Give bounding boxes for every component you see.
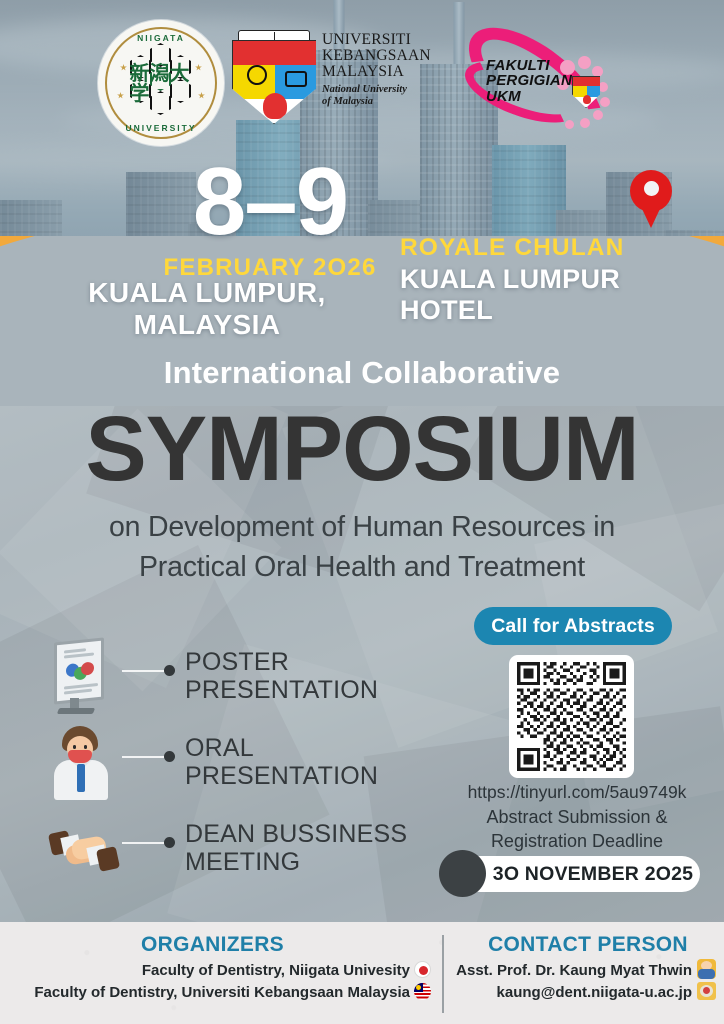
activity-label-line-1: POSTER xyxy=(185,648,378,676)
fakulti-text-block: FAKULTI PERGIGIAN UKM xyxy=(486,58,572,104)
bullet-dot xyxy=(164,751,175,762)
fakulti-pergigian-ukm-logo: FAKULTI PERGIGIAN UKM xyxy=(452,22,638,140)
activity-label-line-1: ORAL xyxy=(185,734,378,762)
qr-code-image xyxy=(516,662,627,771)
deadline-label: Abstract Submission & Registration Deadl… xyxy=(430,806,724,854)
contact-name: Asst. Prof. Dr. Kaung Myat Thwin xyxy=(450,962,692,979)
map-pin-icon xyxy=(630,170,672,228)
organizer-1: Faculty of Dentistry, Niigata Univesity xyxy=(0,962,410,979)
bullet-dot xyxy=(164,665,175,676)
footer-divider xyxy=(442,935,444,1013)
ukm-shield-icon xyxy=(232,40,316,124)
call-for-abstracts-button[interactable]: Call for Abstracts xyxy=(474,607,672,645)
fakulti-line-3: UKM xyxy=(486,89,572,104)
niigata-kanji: 新潟大学 xyxy=(130,63,193,103)
ukm-sub-2: of Malaysia xyxy=(322,96,440,108)
niigata-university-logo: NIIGATA UNIVERSITY 新潟大学 xyxy=(98,20,224,146)
ukm-line-3: MALAYSIA xyxy=(322,64,440,80)
list-item: DEAN BUSSINESS MEETING xyxy=(40,810,410,896)
fakulti-line-2: PERGIGIAN xyxy=(486,73,572,88)
organizers-heading: ORGANIZERS xyxy=(0,933,425,957)
list-item: POSTER PRESENTATION xyxy=(40,638,410,724)
activity-label-line-1: DEAN BUSSINESS xyxy=(185,820,407,848)
subtitle-line-1: on Development of Human Resources in xyxy=(0,508,724,548)
handshake-icon xyxy=(48,810,120,886)
activity-label: DEAN BUSSINESS MEETING xyxy=(185,820,407,876)
activity-list: POSTER PRESENTATION ORAL PRESENTATION xyxy=(40,638,410,896)
event-dates: 8–9 xyxy=(155,158,385,246)
monitor-poster-icon xyxy=(48,638,120,714)
subtitle-line-2: Practical Oral Health and Treatment xyxy=(0,548,724,588)
deadline-label-line-1: Abstract Submission & xyxy=(430,806,724,830)
contact-avatar-icon: . xyxy=(697,959,716,979)
deadline-label-line-2: Registration Deadline xyxy=(430,830,724,854)
page-title: SYMPOSIUM xyxy=(0,405,724,493)
niigata-logo-bottom-text: UNIVERSITY xyxy=(98,123,224,133)
venue-line-1: ROYALE CHULAN xyxy=(400,234,690,262)
bullet-dot xyxy=(164,837,175,848)
deadline-circle-accent xyxy=(439,850,486,897)
page-subtitle: on Development of Human Resources in Pra… xyxy=(0,508,724,588)
ukm-line-1: UNIVERSITI xyxy=(322,32,440,48)
ukm-crest-logo xyxy=(232,26,316,130)
activity-label-line-2: PRESENTATION xyxy=(185,762,378,790)
logo-row: NIIGATA UNIVERSITY 新潟大学 xyxy=(0,0,724,150)
deadline-pill: 3O NOVEMBER 2O25 xyxy=(462,856,700,892)
deadline-date: 3O NOVEMBER 2O25 xyxy=(469,863,693,886)
ukm-name-block: UNIVERSITI KEBANGSAAN MALAYSIA National … xyxy=(322,32,440,109)
submission-url[interactable]: https://tinyurl.com/5au9749k xyxy=(430,782,724,803)
contact-person-heading: CONTACT PERSON xyxy=(452,933,724,957)
activity-label: ORAL PRESENTATION xyxy=(185,734,378,790)
list-item: ORAL PRESENTATION xyxy=(40,724,410,810)
japan-flag-icon xyxy=(414,961,431,978)
activity-label-line-2: MEETING xyxy=(185,848,407,876)
event-city: KUALA LUMPUR, MALAYSIA xyxy=(22,277,392,341)
venue-line-2: KUALA LUMPUR HOTEL xyxy=(400,264,690,326)
organizer-2: Faculty of Dentistry, Universiti Kebangs… xyxy=(0,984,410,1001)
email-envelope-icon: . xyxy=(697,982,716,1000)
ukm-sub-1: National University xyxy=(322,84,440,96)
malaysia-flag-icon: . xyxy=(414,983,431,1000)
qr-code[interactable] xyxy=(509,655,634,778)
banner-text: International Collaborative xyxy=(0,355,724,391)
venue-block: ROYALE CHULAN KUALA LUMPUR HOTEL xyxy=(400,234,690,326)
activity-label-line-2: PRESENTATION xyxy=(185,676,378,704)
activity-label: POSTER PRESENTATION xyxy=(185,648,378,704)
contact-email[interactable]: kaung@dent.niigata-u.ac.jp xyxy=(450,984,692,1001)
ukm-line-2: KEBANGSAAN xyxy=(322,48,440,64)
niigata-logo-top-text: NIIGATA xyxy=(98,33,224,43)
fakulti-line-1: FAKULTI xyxy=(486,58,572,73)
presenter-person-icon xyxy=(48,724,120,800)
conference-poster: International Collaborative NIIGATA UNIV… xyxy=(0,0,724,1024)
